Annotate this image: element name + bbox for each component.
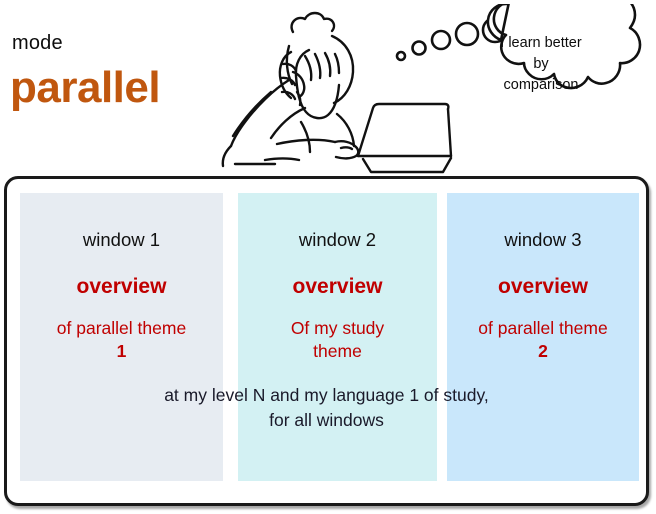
window-panel-3[interactable]: window 3 overview of parallel theme 2: [447, 193, 639, 481]
window-title-1: window 1: [20, 229, 223, 251]
mode-value: parallel: [10, 66, 160, 110]
mode-label: mode: [12, 32, 63, 55]
window-title-3: window 3: [447, 229, 639, 251]
window-heading-3: overview: [447, 275, 639, 299]
thought-bubble-line-1: I learn better: [466, 33, 616, 54]
window-heading-1: overview: [20, 275, 223, 299]
thought-bubble-line-3: comparison: [466, 75, 616, 96]
window-title-2: window 2: [238, 229, 437, 251]
window-subtitle-line2-2: theme: [313, 341, 362, 361]
header-area: mode parallel: [0, 0, 656, 176]
window-subtitle-2: Of my study theme: [238, 317, 437, 364]
window-panel-1[interactable]: window 1 overview of parallel theme 1: [20, 193, 223, 481]
window-subtitle-line2-1: 1: [117, 341, 127, 361]
window-subtitle-3: of parallel theme 2: [447, 317, 639, 364]
thought-bubble-text: I learn better by comparison: [466, 33, 616, 96]
window-subtitle-line1-1: of parallel theme: [57, 318, 186, 338]
window-panel-2[interactable]: window 2 overview Of my study theme: [238, 193, 437, 481]
window-heading-2: overview: [238, 275, 437, 299]
thought-bubble-line-2: by: [466, 54, 616, 75]
window-subtitle-1: of parallel theme 1: [20, 317, 223, 364]
window-subtitle-line1-3: of parallel theme: [478, 318, 607, 338]
window-subtitle-line2-3: 2: [538, 341, 548, 361]
windows-panel: window 1 overview of parallel theme 1 wi…: [4, 176, 649, 506]
window-subtitle-line1-2: Of my study: [291, 318, 384, 338]
